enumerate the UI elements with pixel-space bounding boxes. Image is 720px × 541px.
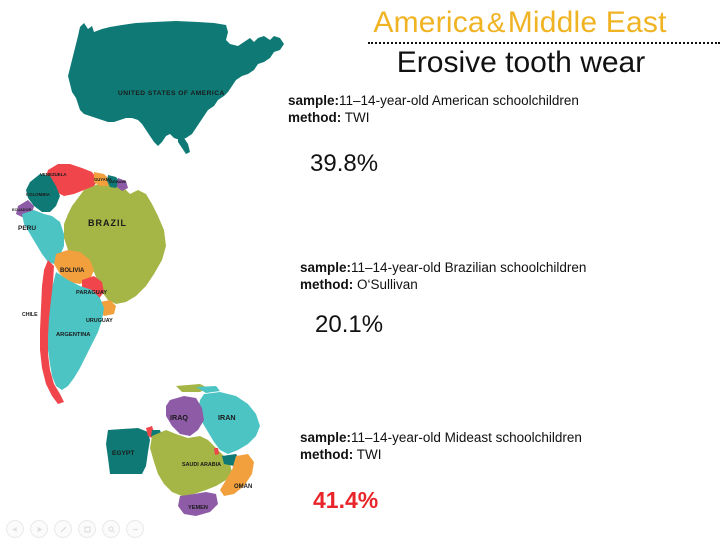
entry-mideast-sample-value: 11–14-year-old Mideast schoolchildren bbox=[351, 430, 582, 445]
entry-mideast-text: sample:11–14-year-old Mideast schoolchil… bbox=[300, 429, 582, 463]
entry-usa-method-line: method: TWI bbox=[288, 109, 579, 126]
title-region-middle-east: Middle East bbox=[508, 6, 667, 39]
entry-usa-sample-line: sample:11–14-year-old American schoolchi… bbox=[288, 92, 579, 109]
entry-usa-sample-value: 11–14-year-old American schoolchildren bbox=[339, 93, 579, 108]
me-label-iran: IRAN bbox=[218, 413, 236, 422]
entry-mideast-method-value: TWI bbox=[357, 447, 382, 462]
play-icon[interactable] bbox=[30, 520, 48, 538]
media-toolbar bbox=[6, 520, 144, 538]
entry-mideast-sample-label: sample: bbox=[300, 430, 351, 445]
entry-usa-method-label: method: bbox=[288, 110, 341, 125]
entry-usa-sample-label: sample: bbox=[288, 93, 339, 108]
entry-mideast-method-line: method: TWI bbox=[300, 446, 582, 463]
slides-icon[interactable] bbox=[78, 520, 96, 538]
volume-icon[interactable] bbox=[6, 520, 24, 538]
entry-brazil-method-value: O‘Sullivan bbox=[357, 277, 418, 292]
entry-mideast-percent: 41.4% bbox=[313, 487, 378, 514]
sa-label-chile: CHILE bbox=[22, 312, 38, 318]
entry-brazil-sample-value: 11–14-year-old Brazilian schoolchildren bbox=[351, 260, 586, 275]
title-ampersand: & bbox=[485, 7, 508, 38]
slide-subtitle: Erosive tooth wear bbox=[330, 46, 712, 80]
middle-east-map: EGYPT IRAQ IRAN SAUDI ARABIA OMAN YEMEN bbox=[96, 378, 286, 526]
me-label-yemen: YEMEN bbox=[188, 505, 208, 511]
sa-label-venezuela: VENEZUELA bbox=[40, 172, 67, 177]
title-region-america: America bbox=[373, 6, 484, 39]
sa-label-uruguay: URUGUAY bbox=[86, 318, 113, 324]
me-label-oman: OMAN bbox=[234, 484, 252, 490]
entry-brazil-sample-label: sample: bbox=[300, 260, 351, 275]
south-america-map: VENEZUELA GUYANA SURINAME COLOMBIA ECUAD… bbox=[6, 150, 191, 412]
slide-canvas: America&Middle East Erosive tooth wear U… bbox=[0, 0, 720, 541]
me-label-saudi-arabia: SAUDI ARABIA bbox=[182, 462, 221, 468]
entry-usa-percent: 39.8% bbox=[310, 150, 378, 178]
entry-usa-method-value: TWI bbox=[345, 110, 370, 125]
pen-icon[interactable] bbox=[54, 520, 72, 538]
me-label-iraq: IRAQ bbox=[170, 413, 188, 422]
entry-mideast-method-label: method: bbox=[300, 447, 353, 462]
me-label-egypt: EGYPT bbox=[112, 450, 134, 457]
sa-label-colombia: COLOMBIA bbox=[26, 192, 51, 197]
sa-label-paraguay: PARAGUAY bbox=[76, 290, 107, 296]
united-states-map: UNITED STATES OF AMERICA bbox=[58, 18, 296, 158]
entry-brazil-method-label: method: bbox=[300, 277, 353, 292]
sa-label-argentina: ARGENTINA bbox=[56, 332, 91, 338]
sa-label-bolivia: BOLIVIA bbox=[60, 268, 85, 274]
entry-usa-text: sample:11–14-year-old American schoolchi… bbox=[288, 92, 579, 126]
sa-label-suriname: SURINAME bbox=[109, 180, 126, 184]
usa-map-label: UNITED STATES OF AMERICA bbox=[118, 90, 225, 97]
title-dotted-divider bbox=[368, 42, 720, 44]
slide-title: America&Middle East bbox=[330, 6, 710, 40]
more-icon[interactable] bbox=[126, 520, 144, 538]
sa-label-peru: PERU bbox=[18, 225, 36, 232]
entry-brazil-method-line: method: O‘Sullivan bbox=[300, 276, 586, 293]
sa-label-brazil: BRAZIL bbox=[88, 218, 127, 228]
sa-label-ecuador: ECUADOR bbox=[12, 208, 31, 212]
entry-brazil-text: sample:11–14-year-old Brazilian schoolch… bbox=[300, 259, 586, 293]
entry-mideast-sample-line: sample:11–14-year-old Mideast schoolchil… bbox=[300, 429, 582, 446]
zoom-icon[interactable] bbox=[102, 520, 120, 538]
entry-brazil-percent: 20.1% bbox=[315, 311, 383, 339]
entry-brazil-sample-line: sample:11–14-year-old Brazilian schoolch… bbox=[300, 259, 586, 276]
